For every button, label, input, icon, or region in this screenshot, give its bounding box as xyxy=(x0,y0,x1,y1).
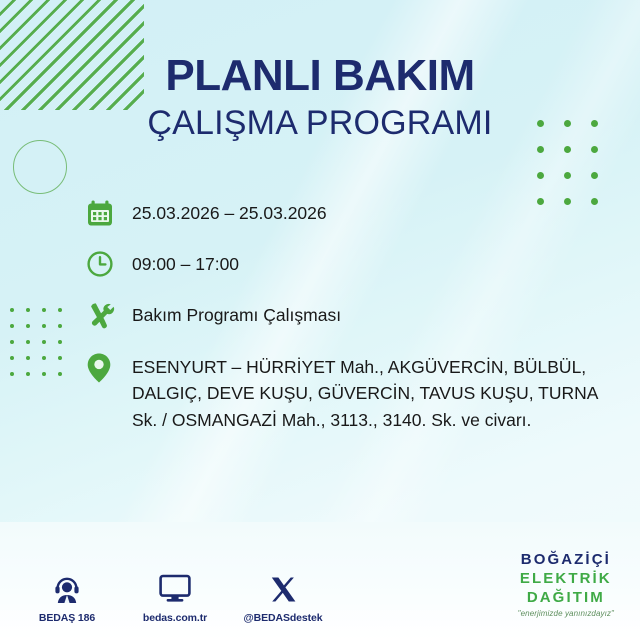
contact-x-account[interactable]: @BEDASdestek xyxy=(242,571,324,624)
clock-icon xyxy=(86,249,132,278)
logo-line-elektrik: ELEKTRİK xyxy=(518,571,614,586)
contact-call-center-label: BEDAŞ 186 xyxy=(26,612,108,624)
monitor-icon xyxy=(134,571,216,607)
time-range-text: 09:00 – 17:00 xyxy=(132,249,239,277)
logo-tagline: "enerjimizde yanınızdayız" xyxy=(518,610,614,618)
info-row-address: ESENYURT – HÜRRİYET Mah., AKGÜVERCİN, BÜ… xyxy=(86,351,600,433)
poster-header: PLANLI BAKIM ÇALIŞMA PROGRAMI xyxy=(0,54,640,142)
bedas-logo: BOĞAZİÇİ ELEKTRİK DAĞITIM "enerjimizde y… xyxy=(518,552,614,618)
info-row-worktype: Bakım Programı Çalışması xyxy=(86,300,600,329)
logo-line-bogazici: BOĞAZİÇİ xyxy=(518,552,614,567)
map-pin-icon xyxy=(86,351,132,384)
contact-call-center[interactable]: BEDAŞ 186 xyxy=(26,571,108,624)
info-row-time: 09:00 – 17:00 xyxy=(86,249,600,278)
page-subtitle: ÇALIŞMA PROGRAMI xyxy=(0,105,640,142)
contact-x-account-label: @BEDASdestek xyxy=(242,612,324,624)
page-title: PLANLI BAKIM xyxy=(0,54,640,99)
x-logo-icon xyxy=(242,571,324,607)
dot-grid-left-decoration xyxy=(10,308,74,388)
contact-website[interactable]: bedas.com.tr xyxy=(134,571,216,624)
logo-line-dagitim: DAĞITIM xyxy=(518,590,614,605)
info-list: 25.03.2026 – 25.03.2026 09:00 – 17:00 Ba… xyxy=(86,198,600,433)
address-text: ESENYURT – HÜRRİYET Mah., AKGÜVERCİN, BÜ… xyxy=(132,351,600,433)
work-type-text: Bakım Programı Çalışması xyxy=(132,300,341,328)
headset-icon xyxy=(26,571,108,607)
planned-maintenance-poster: PLANLI BAKIM ÇALIŞMA PROGRAMI 25.03.2026… xyxy=(0,0,640,640)
contact-footer: BEDAŞ 186 bedas.com.tr @BEDASdestek xyxy=(26,571,324,624)
circle-outline-decoration xyxy=(13,140,67,194)
calendar-icon xyxy=(86,198,132,227)
date-range-text: 25.03.2026 – 25.03.2026 xyxy=(132,198,327,226)
contact-website-label: bedas.com.tr xyxy=(134,612,216,624)
tools-icon xyxy=(86,300,132,329)
info-row-date: 25.03.2026 – 25.03.2026 xyxy=(86,198,600,227)
